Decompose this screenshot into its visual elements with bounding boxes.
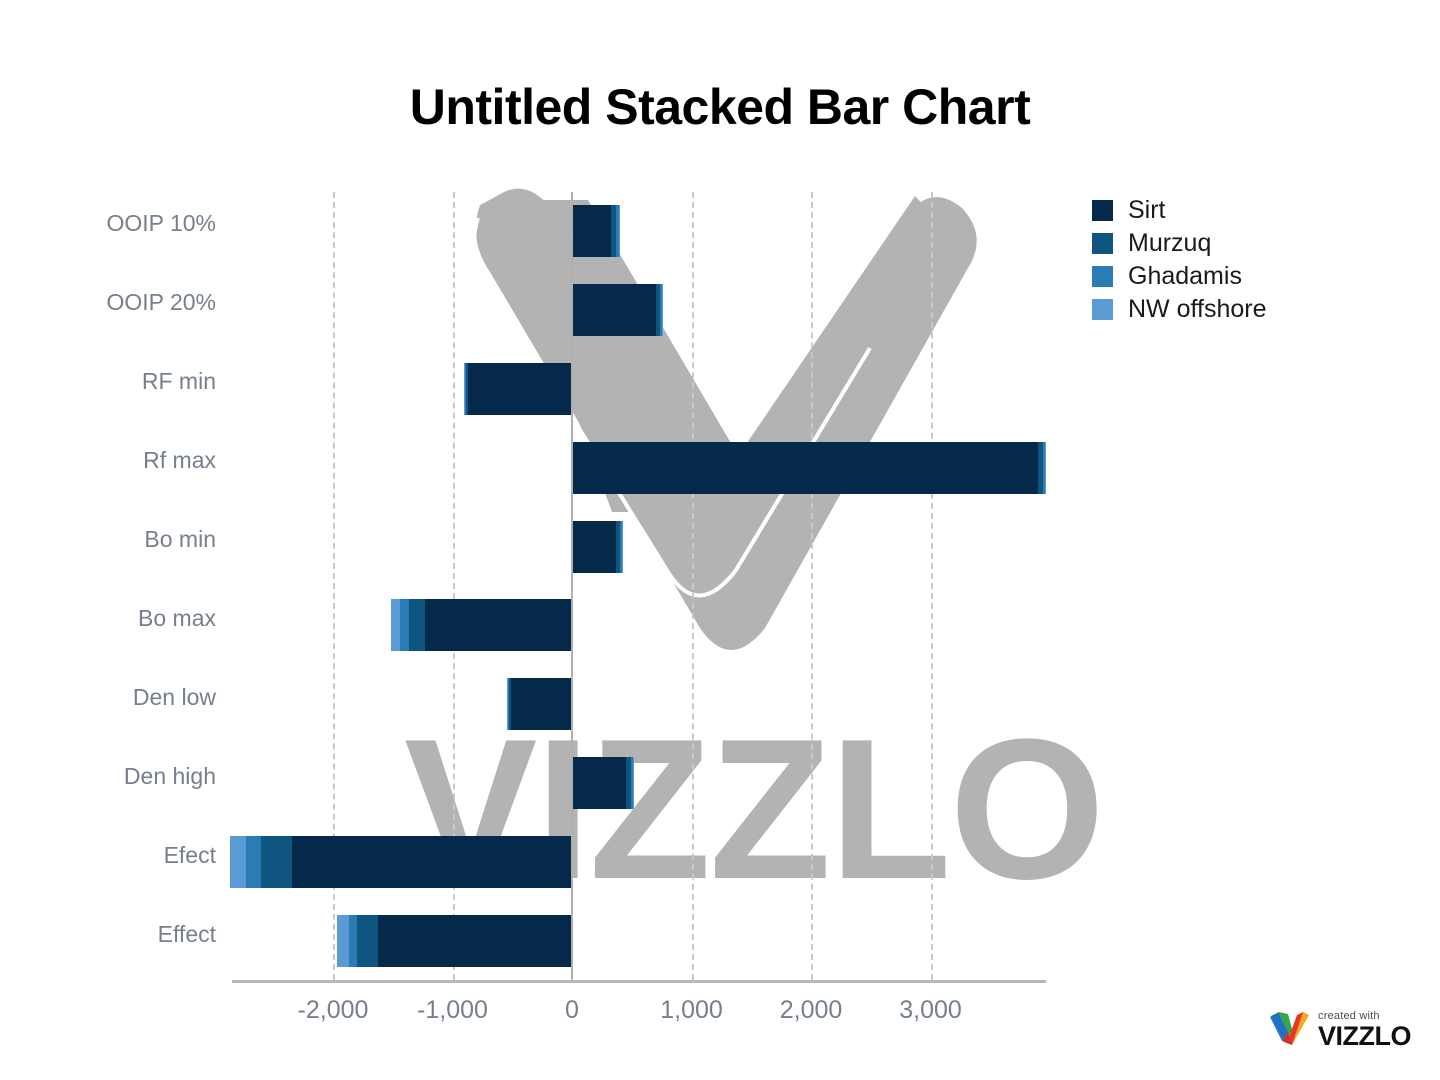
y-label-bo-min: Bo min xyxy=(16,526,216,553)
vizzlo-footer-logo[interactable]: created with VIZZLO xyxy=(1268,1004,1428,1056)
x-tick-label-1000: 1,000 xyxy=(660,996,723,1025)
bar-row[interactable] xyxy=(232,363,1046,415)
bar-segment[interactable] xyxy=(357,915,379,967)
legend-swatch-icon-nw-offshore xyxy=(1092,299,1113,320)
y-label-den-low: Den low xyxy=(16,684,216,711)
legend-item-murzuq[interactable]: Murzuq xyxy=(1092,227,1422,259)
legend-item-nw-offshore[interactable]: NW offshore xyxy=(1092,293,1422,325)
bar-segment[interactable] xyxy=(466,363,468,415)
legend: Sirt Murzuq Ghadamis NW offshore xyxy=(1092,194,1422,326)
y-label-rf-min: RF min xyxy=(16,368,216,395)
bar-segment[interactable] xyxy=(378,915,572,967)
y-axis-labels: OOIP 10% OOIP 20% RF min Rf max Bo min B… xyxy=(0,192,216,980)
bar-segment[interactable] xyxy=(464,363,465,415)
bar-segment[interactable] xyxy=(662,284,663,336)
legend-item-sirt[interactable]: Sirt xyxy=(1092,194,1422,226)
bar-row[interactable] xyxy=(232,678,1046,730)
bar-segment[interactable] xyxy=(292,836,572,888)
y-label-rf-max: Rf max xyxy=(16,447,216,474)
y-label-den-high: Den high xyxy=(16,763,216,790)
y-label-ooip-20: OOIP 20% xyxy=(16,289,216,316)
bar-segment[interactable] xyxy=(261,836,292,888)
bar-row[interactable] xyxy=(232,284,1046,336)
bar-segment[interactable] xyxy=(572,442,1038,494)
footer-logo-text: created with VIZZLO xyxy=(1318,1010,1411,1050)
vizzlo-check-logo-icon xyxy=(1268,1010,1312,1050)
chart-root: Untitled Stacked Bar Chart VIZZLO OOIP 1… xyxy=(0,0,1440,1080)
legend-swatch-icon-murzuq xyxy=(1092,233,1113,254)
bar-segment[interactable] xyxy=(622,521,623,573)
bar-segment[interactable] xyxy=(400,599,410,651)
bar-segment[interactable] xyxy=(619,205,620,257)
bar-segment[interactable] xyxy=(391,599,400,651)
bar-row[interactable] xyxy=(232,757,1046,809)
bar-row[interactable] xyxy=(232,442,1046,494)
bar-segment[interactable] xyxy=(468,363,572,415)
bar-segment[interactable] xyxy=(572,284,656,336)
bar-segment[interactable] xyxy=(1045,442,1046,494)
bar-segment[interactable] xyxy=(246,836,262,888)
bar-segment[interactable] xyxy=(572,205,611,257)
legend-label-nw-offshore: NW offshore xyxy=(1128,295,1266,324)
bar-segment[interactable] xyxy=(409,599,425,651)
bar-row[interactable] xyxy=(232,205,1046,257)
bar-row[interactable] xyxy=(232,521,1046,573)
legend-label-sirt: Sirt xyxy=(1128,196,1166,225)
x-tick-label--1000: -1,000 xyxy=(417,996,488,1025)
y-label-effect: Effect xyxy=(16,921,216,948)
x-axis-labels: -2,000-1,00001,0002,0003,000 xyxy=(232,996,1046,1036)
x-tick-label-0: 0 xyxy=(565,996,579,1025)
bar-segment[interactable] xyxy=(507,678,508,730)
y-label-bo-max: Bo max xyxy=(16,605,216,632)
legend-label-ghadamis: Ghadamis xyxy=(1128,262,1242,291)
legend-item-ghadamis[interactable]: Ghadamis xyxy=(1092,260,1422,292)
x-tick-label-2000: 2,000 xyxy=(780,996,843,1025)
bar-row[interactable] xyxy=(232,599,1046,651)
x-tick-label--2000: -2,000 xyxy=(298,996,369,1025)
legend-label-murzuq: Murzuq xyxy=(1128,229,1211,258)
bar-segment[interactable] xyxy=(633,757,634,809)
y-label-efect: Efect xyxy=(16,842,216,869)
zero-axis-line xyxy=(571,192,573,980)
x-axis-line xyxy=(232,980,1046,983)
plot-area xyxy=(232,192,1046,980)
footer-brand-label: VIZZLO xyxy=(1318,1022,1411,1050)
bar-segment[interactable] xyxy=(511,678,572,730)
legend-swatch-icon-sirt xyxy=(1092,200,1113,221)
bar-segment[interactable] xyxy=(572,521,616,573)
legend-swatch-icon-ghadamis xyxy=(1092,266,1113,287)
bar-segment[interactable] xyxy=(230,836,246,888)
x-tick-label-3000: 3,000 xyxy=(899,996,962,1025)
bar-segment[interactable] xyxy=(572,757,626,809)
bar-segment[interactable] xyxy=(425,599,572,651)
chart-title: Untitled Stacked Bar Chart xyxy=(0,78,1440,136)
bar-row[interactable] xyxy=(232,836,1046,888)
bar-segment[interactable] xyxy=(349,915,357,967)
y-label-ooip-10: OOIP 10% xyxy=(16,210,216,237)
bar-row[interactable] xyxy=(232,915,1046,967)
bar-segment[interactable] xyxy=(337,915,349,967)
